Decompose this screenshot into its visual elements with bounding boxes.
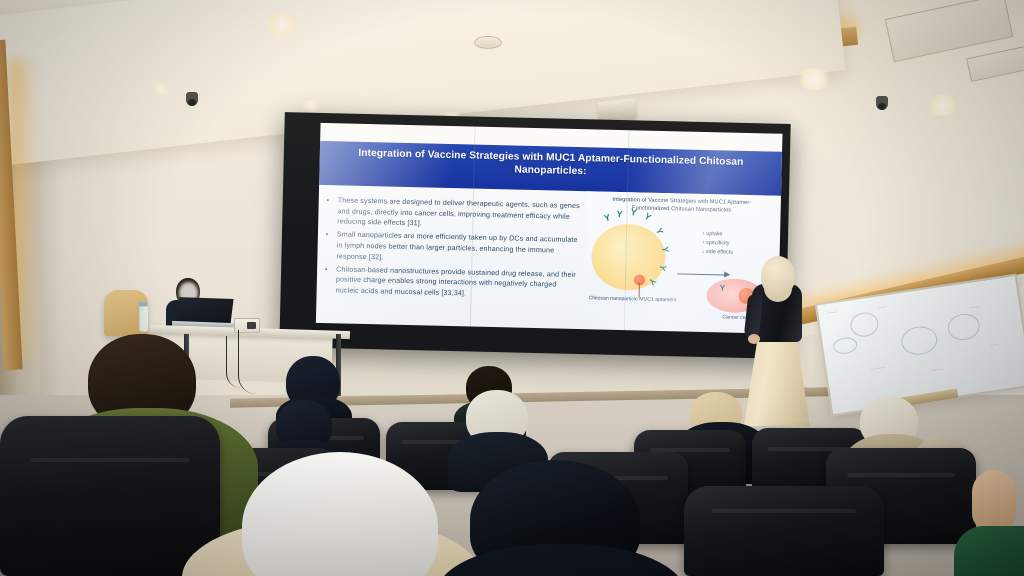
projection-screen[interactable]: Integration of Vaccine Strategies with M… bbox=[279, 112, 790, 359]
nanoparticle-label: Chitosan nanoparticle MUC1 aptamers bbox=[586, 295, 678, 304]
downlight-icon bbox=[795, 68, 833, 90]
presenter-hand bbox=[748, 334, 760, 344]
downlight-icon bbox=[925, 95, 961, 116]
slide-bullet-list: These systems are designed to deliver th… bbox=[326, 195, 580, 304]
presenter-hijab bbox=[761, 256, 795, 296]
whiteboard-text: ~~~ bbox=[878, 305, 887, 311]
presentation-slide: Integration of Vaccine Strategies with M… bbox=[316, 123, 783, 334]
aptamer-icon: Y bbox=[630, 208, 638, 218]
lecture-hall-photo: Integration of Vaccine Strategies with M… bbox=[0, 0, 1024, 576]
aptamer-icon: Y bbox=[654, 227, 665, 236]
security-camera-icon bbox=[186, 92, 198, 106]
power-cable bbox=[226, 336, 241, 388]
whiteboard-text: ~~~~ bbox=[969, 305, 980, 312]
downlight-icon bbox=[300, 100, 322, 112]
auditorium-chair[interactable] bbox=[684, 486, 884, 576]
aptamer-icon: Y bbox=[660, 246, 669, 253]
whiteboard-sketch bbox=[849, 311, 880, 339]
water-bottle[interactable] bbox=[139, 306, 149, 332]
chair-backrest-slot bbox=[712, 509, 856, 513]
list-item: Chitosan-based nanostructures provide su… bbox=[336, 264, 580, 302]
presenter bbox=[742, 256, 814, 426]
aptamer-icon: Y bbox=[616, 210, 623, 220]
whiteboard-sketch bbox=[899, 324, 939, 357]
whiteboard-sketch bbox=[946, 312, 981, 342]
aptamer-icon: Y bbox=[603, 213, 611, 223]
whiteboard-text: ~~~~ bbox=[826, 311, 837, 318]
auditorium-chair[interactable] bbox=[0, 416, 220, 576]
benefit-side-effects: ↓ side effects bbox=[702, 248, 734, 258]
whiteboard-text: ~~~ bbox=[991, 343, 1000, 349]
whiteboard-text: ~~~~ bbox=[932, 368, 943, 375]
presenter-skirt bbox=[744, 332, 810, 426]
shoulders bbox=[954, 526, 1024, 576]
chair-backrest-slot bbox=[31, 458, 189, 462]
downlight-icon bbox=[262, 12, 302, 36]
benefits-list: ↑ uptake ↑ specificity ↓ side effects bbox=[702, 230, 734, 257]
label-leader-line bbox=[639, 282, 640, 297]
smoke-detector-icon bbox=[474, 36, 502, 49]
aptamer-icon: Y bbox=[720, 283, 726, 292]
arrow-icon bbox=[677, 273, 729, 275]
list-item: These systems are designed to deliver th… bbox=[337, 195, 581, 233]
security-camera-icon bbox=[876, 96, 888, 110]
whiteboard-text: ~~~~~ bbox=[871, 366, 885, 373]
aptamer-icon: Y bbox=[642, 212, 652, 223]
whiteboard-sketch bbox=[832, 336, 858, 355]
downlight-icon bbox=[150, 82, 172, 95]
slide-title: Integration of Vaccine Strategies with M… bbox=[319, 141, 782, 196]
chair-backrest-slot bbox=[847, 473, 955, 477]
hand-icon bbox=[972, 470, 1016, 530]
list-item: Small nanoparticles are more efficiently… bbox=[336, 230, 580, 268]
